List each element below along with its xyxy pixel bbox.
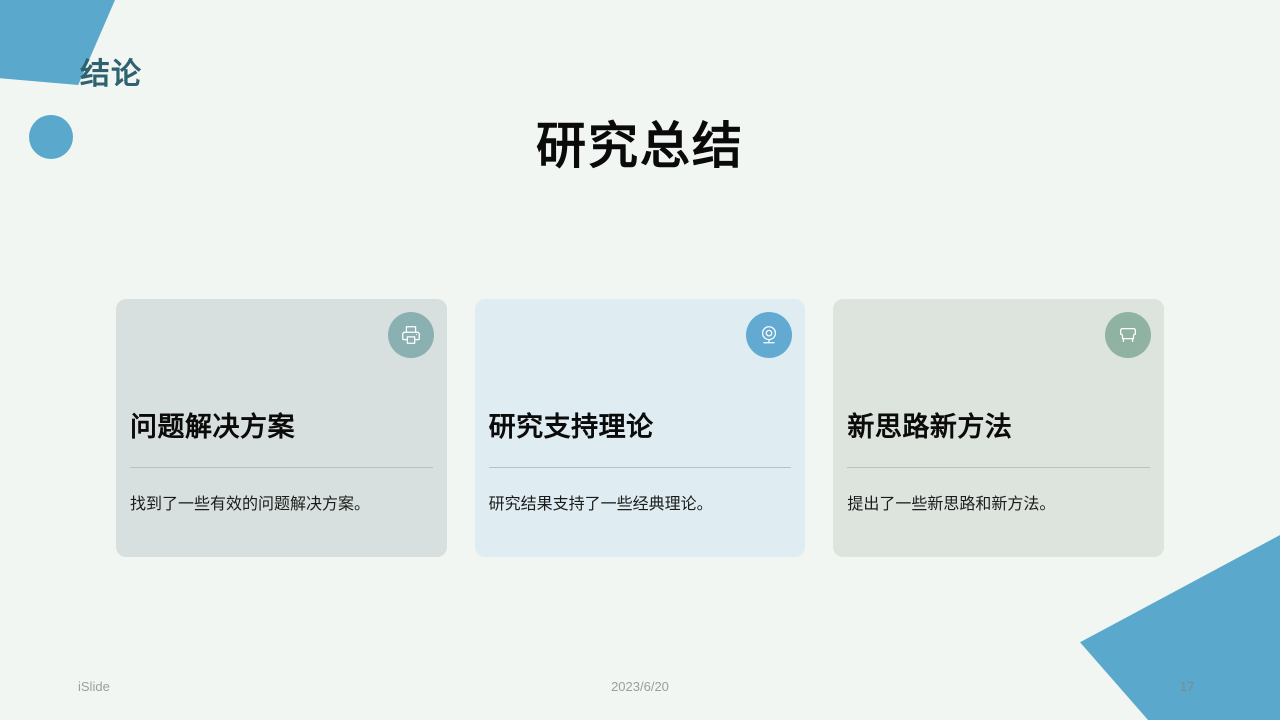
card-divider <box>847 467 1150 468</box>
card-new-methods[interactable]: 新思路新方法 提出了一些新思路和新方法。 <box>833 299 1164 557</box>
card-divider <box>489 467 792 468</box>
card-title: 新思路新方法 <box>847 411 1150 443</box>
card-description: 研究结果支持了一些经典理论。 <box>489 493 796 517</box>
card-research-theory[interactable]: 研究支持理论 研究结果支持了一些经典理论。 <box>475 299 806 557</box>
card-problem-solution[interactable]: 问题解决方案 找到了一些有效的问题解决方案。 <box>116 299 447 557</box>
card-title: 问题解决方案 <box>130 411 433 443</box>
card-description: 找到了一些有效的问题解决方案。 <box>130 493 437 517</box>
section-label: 结论 <box>80 60 142 90</box>
armchair-icon <box>1105 312 1151 358</box>
page-title: 研究总结 <box>0 118 1280 176</box>
card-group: 问题解决方案 找到了一些有效的问题解决方案。 研究支持理论 研究结果支持了一些经… <box>116 299 1164 557</box>
printer-icon <box>388 312 434 358</box>
card-description: 提出了一些新思路和新方法。 <box>847 493 1154 517</box>
footer-page-number: 17 <box>1180 679 1194 694</box>
card-divider <box>130 467 433 468</box>
webcam-icon <box>746 312 792 358</box>
card-title: 研究支持理论 <box>489 411 792 443</box>
footer-date: 2023/6/20 <box>0 679 1280 694</box>
presentation-slide: 结论 研究总结 问题解决方案 找到了一些有效的问题解决方案。 <box>0 0 1280 720</box>
